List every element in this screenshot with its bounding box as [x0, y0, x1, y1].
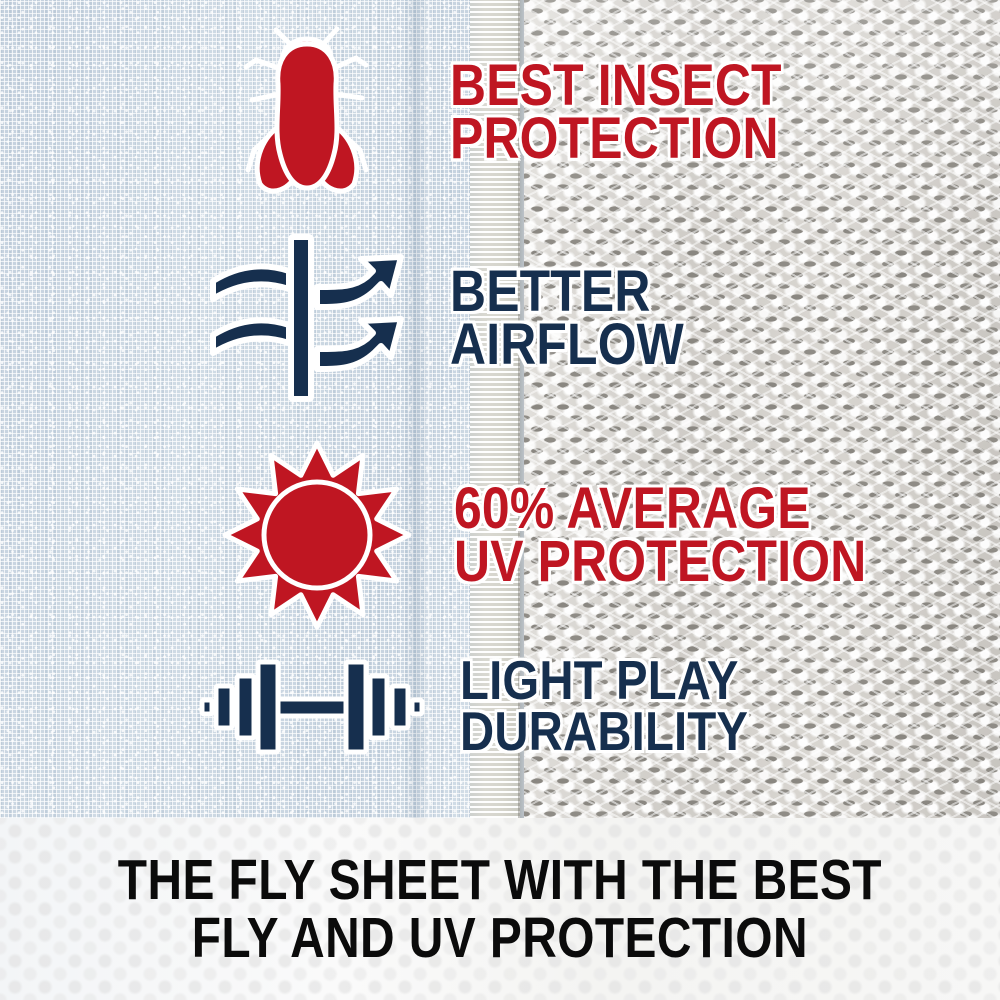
- feature-row-durability: LIGHT PLAY DURABILITY: [196, 655, 795, 756]
- feature-label-line-2: DURABILITY: [460, 706, 748, 757]
- feature-label-insect-protection: BEST INSECT PROTECTION: [450, 59, 782, 166]
- feature-label-uv-protection: 60% AVERAGE UV PROTECTION: [454, 482, 866, 589]
- feature-label-line-1: BETTER: [450, 265, 684, 318]
- feature-row-airflow: BETTER AIRFLOW: [205, 243, 722, 393]
- sun-icon: [222, 440, 412, 630]
- feature-label-line-2: PROTECTION: [450, 112, 782, 165]
- feature-row-insect-protection: BEST INSECT PROTECTION: [236, 22, 836, 202]
- feature-label-line-1: 60% AVERAGE: [454, 482, 866, 535]
- product-feature-infographic: BEST INSECT PROTECTION: [0, 0, 1000, 1000]
- feature-label-line-2: AIRFLOW: [450, 318, 684, 371]
- feature-label-line-2: UV PROTECTION: [454, 535, 866, 588]
- tagline-line-2: FLY AND UV PROTECTION: [192, 909, 808, 967]
- bottom-tagline-banner: THE FLY SHEET WITH THE BEST FLY AND UV P…: [0, 818, 1000, 1000]
- tagline-line-1: THE FLY SHEET WITH THE BEST: [118, 851, 882, 909]
- fly-icon: [236, 22, 376, 202]
- feature-row-uv-protection: 60% AVERAGE UV PROTECTION: [222, 440, 934, 630]
- feature-label-line-1: LIGHT PLAY: [460, 655, 748, 706]
- airflow-icon: [205, 243, 420, 393]
- feature-label-line-1: BEST INSECT: [450, 59, 782, 112]
- dumbbell-icon: [196, 656, 428, 756]
- feature-label-durability: LIGHT PLAY DURABILITY: [460, 655, 748, 756]
- feature-label-airflow: BETTER AIRFLOW: [450, 265, 684, 372]
